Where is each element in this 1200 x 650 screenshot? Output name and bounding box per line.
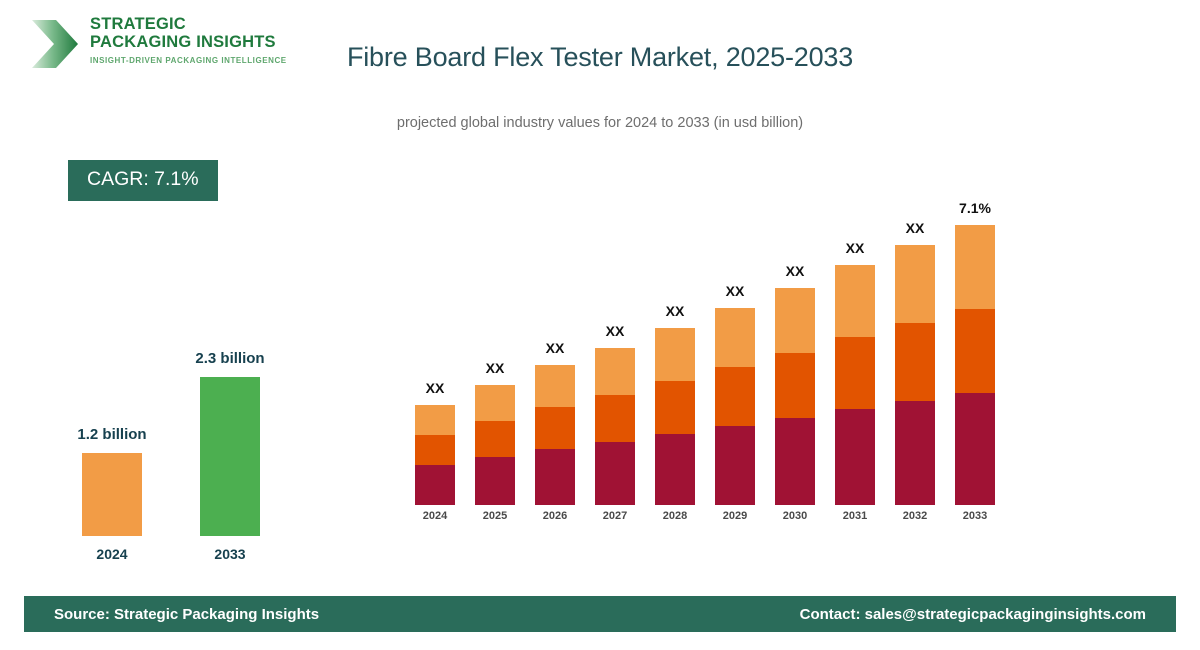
stacked-bar [595, 348, 635, 505]
stacked-bar [475, 385, 515, 505]
logo-line-1: STRATEGIC [90, 16, 287, 34]
stacked-column-2026: XX2026 [535, 365, 575, 505]
stacked-value-label: XX [606, 323, 625, 339]
bar-segment-segment-3 [595, 348, 635, 395]
stacked-year-label: 2028 [663, 510, 687, 522]
stacked-value-label: XX [726, 283, 745, 299]
bar-segment-segment-3 [715, 308, 755, 367]
bar-segment-segment-1 [895, 401, 935, 505]
stacked-column-2031: XX2031 [835, 265, 875, 505]
bar-segment-segment-3 [835, 265, 875, 337]
footer-source: Source: Strategic Packaging Insights [54, 606, 319, 623]
stacked-bar [775, 288, 815, 505]
bar-segment-segment-3 [655, 328, 695, 381]
endpoint-comparison-chart: 1.2 billion20242.3 billion2033 [60, 330, 290, 570]
stacked-bar [415, 405, 455, 505]
stacked-column-2032: XX2032 [895, 245, 935, 505]
comparison-year-label: 2024 [96, 546, 127, 562]
comparison-year-label: 2033 [214, 546, 245, 562]
stacked-value-label: 7.1% [959, 200, 991, 216]
stacked-column-2027: XX2027 [595, 348, 635, 505]
page-subtitle: projected global industry values for 202… [0, 115, 1200, 131]
bar-segment-segment-3 [535, 365, 575, 407]
bar-segment-segment-2 [835, 337, 875, 409]
stacked-bar [535, 365, 575, 505]
bar-segment-segment-3 [955, 225, 995, 309]
stacked-year-label: 2031 [843, 510, 867, 522]
stacked-value-label: XX [906, 220, 925, 236]
stacked-bar [955, 225, 995, 505]
stacked-value-label: XX [666, 303, 685, 319]
bar-segment-segment-3 [415, 405, 455, 435]
bar-segment-segment-1 [775, 418, 815, 505]
bar-segment-segment-2 [715, 367, 755, 426]
bar-segment-segment-3 [475, 385, 515, 421]
stacked-year-label: 2025 [483, 510, 507, 522]
bar-segment-segment-2 [775, 353, 815, 418]
comparison-bar [200, 377, 260, 536]
footer-bar: Source: Strategic Packaging Insights Con… [24, 596, 1176, 632]
bar-segment-segment-1 [715, 426, 755, 505]
stacked-bar [895, 245, 935, 505]
bar-segment-segment-2 [595, 395, 635, 442]
stacked-value-label: XX [546, 340, 565, 356]
page-title: Fibre Board Flex Tester Market, 2025-203… [0, 42, 1200, 73]
bar-segment-segment-2 [535, 407, 575, 449]
stacked-value-label: XX [426, 380, 445, 396]
bar-segment-segment-2 [895, 323, 935, 401]
comparison-column-2033: 2.3 billion2033 [200, 377, 260, 536]
stacked-column-2028: XX2028 [655, 328, 695, 505]
bar-segment-segment-2 [475, 421, 515, 457]
bar-segment-segment-1 [835, 409, 875, 505]
comparison-value-label: 2.3 billion [195, 350, 264, 367]
footer-contact-email: Contact: sales@strategicpackaginginsight… [800, 606, 1146, 623]
stacked-value-label: XX [846, 240, 865, 256]
stacked-year-label: 2027 [603, 510, 627, 522]
bar-segment-segment-2 [655, 381, 695, 434]
projected-market-value-chart: XX2024XX2025XX2026XX2027XX2028XX2029XX20… [405, 205, 1005, 540]
bar-segment-segment-1 [595, 442, 635, 505]
stacked-bar [715, 308, 755, 505]
stacked-column-2030: XX2030 [775, 288, 815, 505]
stacked-value-label: XX [486, 360, 505, 376]
comparison-bar [82, 453, 142, 536]
stacked-year-label: 2032 [903, 510, 927, 522]
stacked-year-label: 2024 [423, 510, 447, 522]
stacked-column-2029: XX2029 [715, 308, 755, 505]
cagr-badge: CAGR: 7.1% [68, 160, 218, 201]
bar-segment-segment-1 [535, 449, 575, 505]
bar-segment-segment-2 [415, 435, 455, 465]
stacked-year-label: 2033 [963, 510, 987, 522]
stacked-value-label: XX [786, 263, 805, 279]
bar-segment-segment-1 [655, 434, 695, 505]
bar-segment-segment-2 [955, 309, 995, 393]
stacked-column-2025: XX2025 [475, 385, 515, 505]
bar-segment-segment-3 [775, 288, 815, 353]
stacked-column-2024: XX2024 [415, 405, 455, 505]
comparison-value-label: 1.2 billion [77, 426, 146, 443]
stacked-bar [835, 265, 875, 505]
stacked-column-2033: 7.1%2033 [955, 225, 995, 505]
bar-segment-segment-1 [475, 457, 515, 505]
stacked-bar [655, 328, 695, 505]
comparison-column-2024: 1.2 billion2024 [82, 453, 142, 536]
bar-segment-segment-1 [955, 393, 995, 505]
bar-segment-segment-3 [895, 245, 935, 323]
bar-segment-segment-1 [415, 465, 455, 505]
stacked-year-label: 2029 [723, 510, 747, 522]
stacked-year-label: 2026 [543, 510, 567, 522]
stacked-year-label: 2030 [783, 510, 807, 522]
